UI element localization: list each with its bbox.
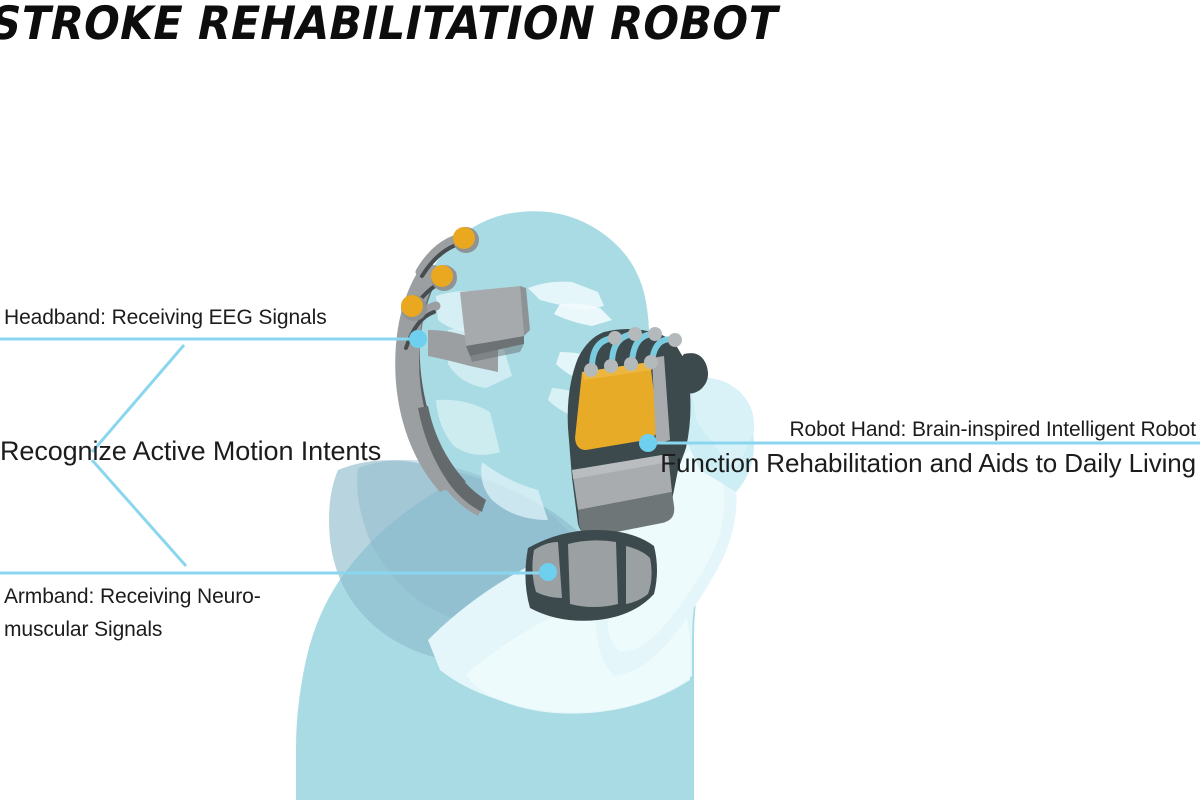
eeg-electrode: [431, 265, 457, 291]
callout-label-robot-hand-line2: Function Rehabilitation and Aids to Dail…: [660, 448, 1196, 479]
connector-dot-robot-hand: [639, 434, 657, 452]
connector-dot-armband: [539, 563, 557, 581]
callout-label-armband-line2: muscular Signals: [4, 618, 162, 642]
callout-label-robot-hand-line1: Robot Hand: Brain-inspired Intelligent R…: [789, 418, 1196, 442]
callout-label-headband: Headband: Receiving EEG Signals: [4, 306, 327, 330]
connector-dot-headband: [409, 330, 427, 348]
callout-label-armband-line1: Armband: Receiving Neuro-: [4, 585, 261, 609]
callout-label-center: Recognize Active Motion Intents: [0, 436, 381, 467]
eeg-electrode: [401, 295, 427, 321]
illustration: [0, 0, 1200, 800]
bracket-lower: [92, 460, 186, 566]
eeg-electrode: [453, 227, 479, 253]
infographic-canvas: STROKE REHABILITATION ROBOT: [0, 0, 1200, 800]
